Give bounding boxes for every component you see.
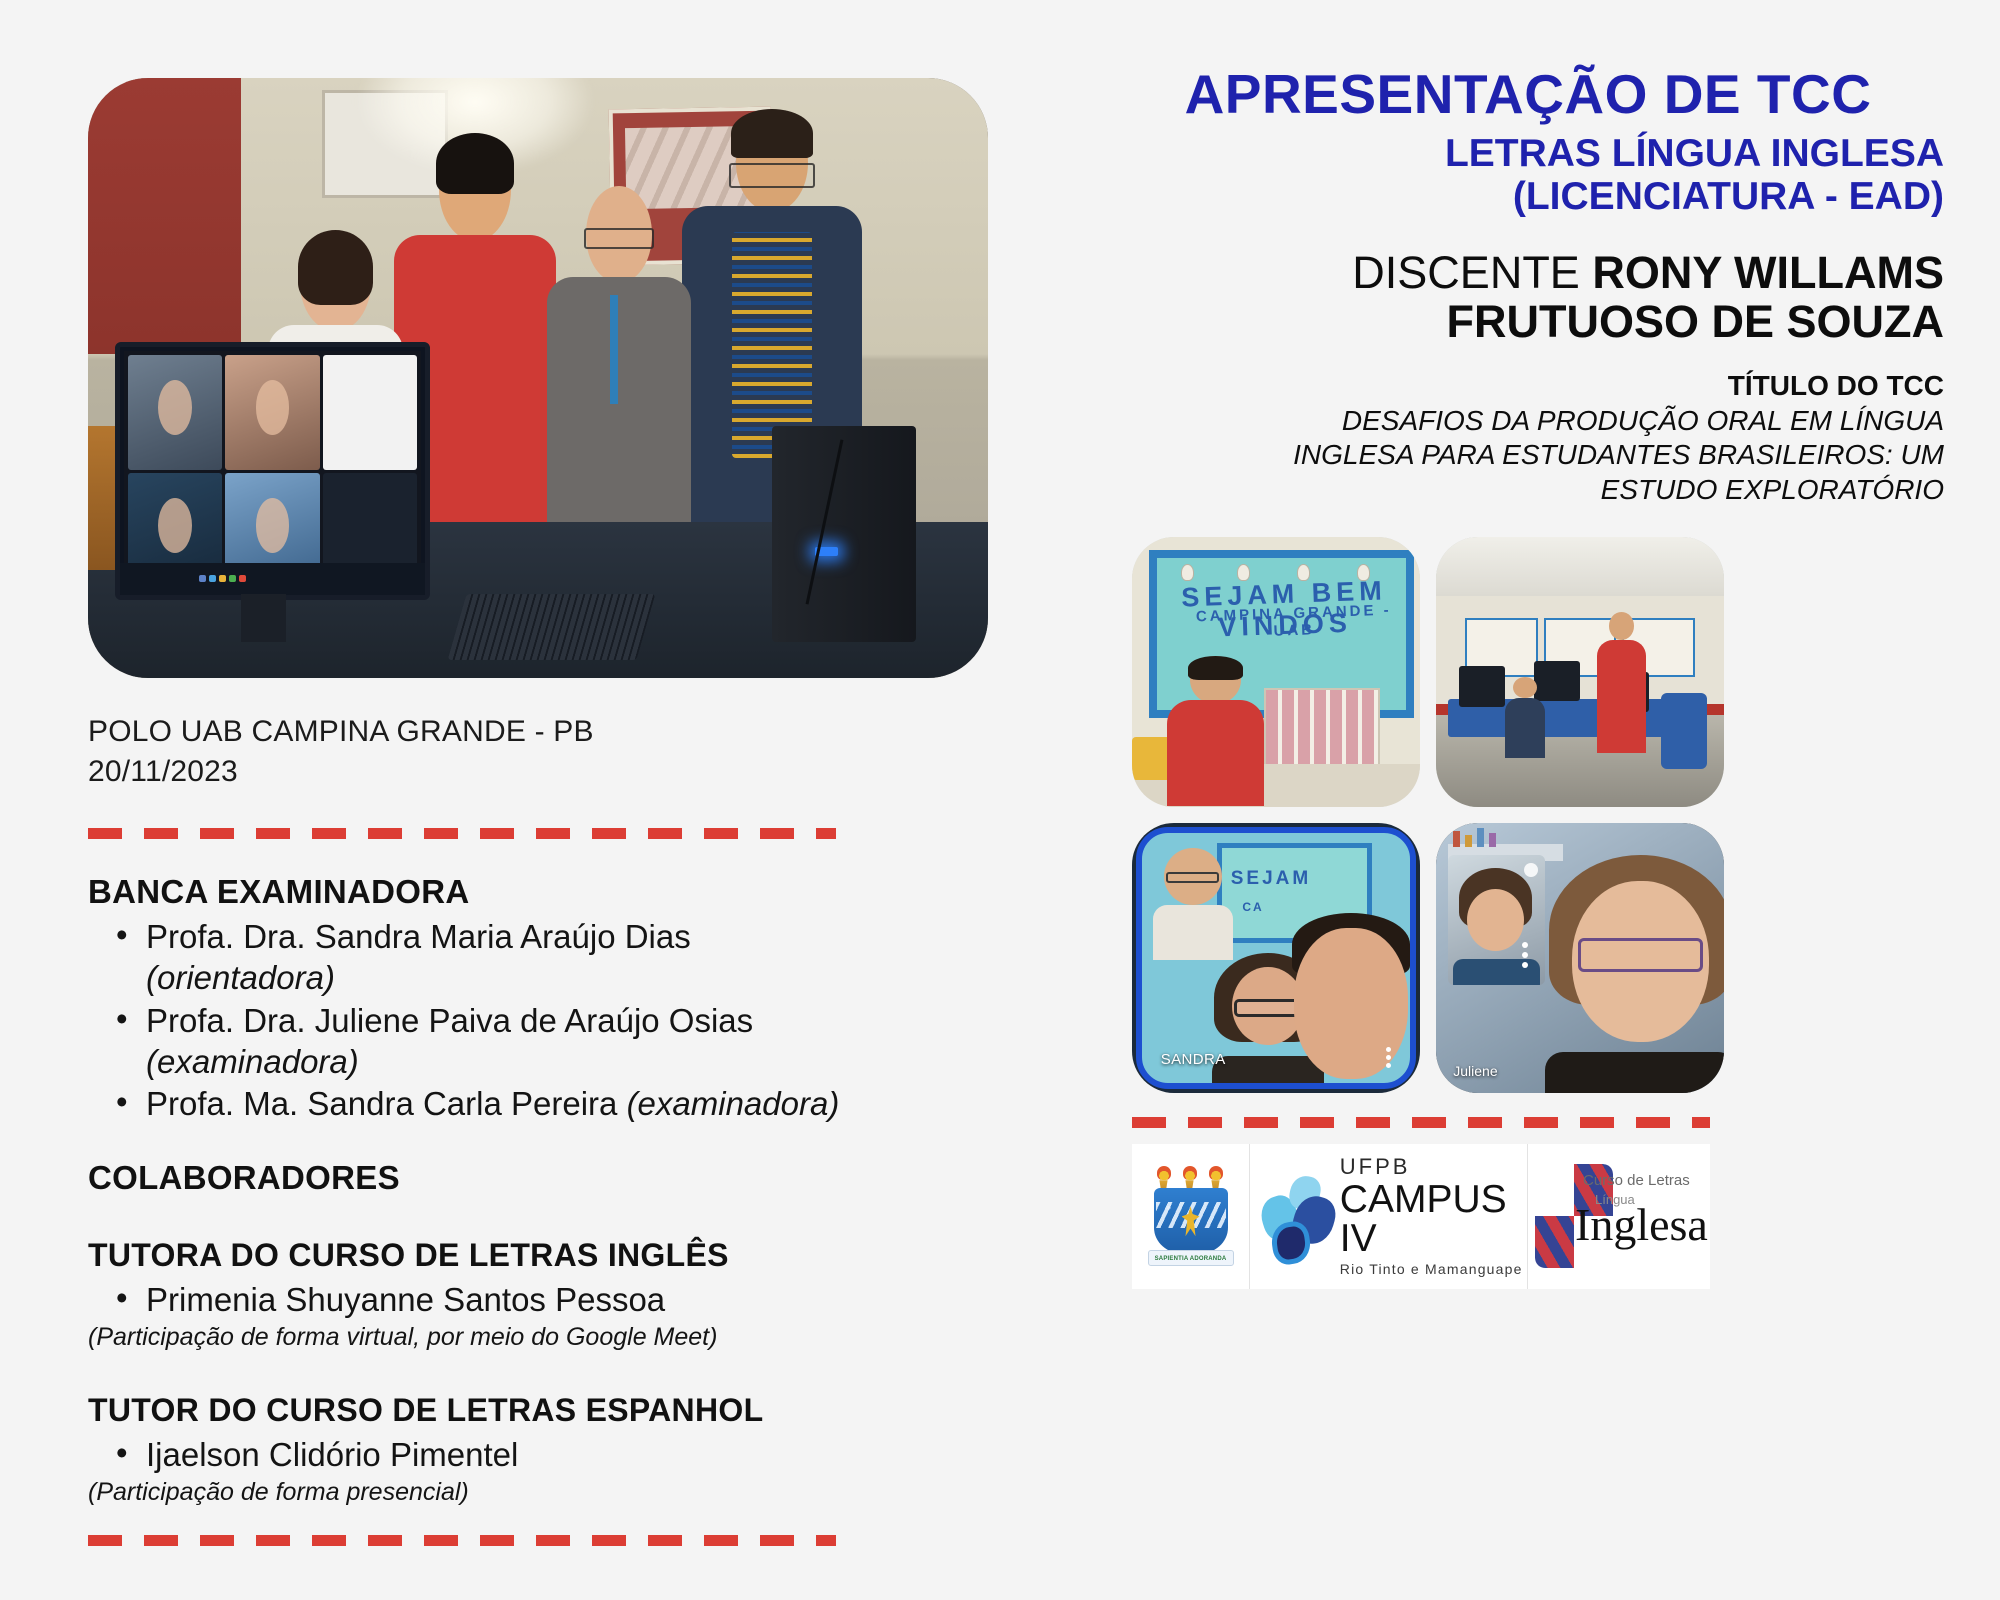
polo-text: POLO UAB CAMPINA GRANDE - PB — [88, 712, 1110, 752]
campus-blob-icon — [1260, 1168, 1330, 1264]
tutora-ingles-note: (Participação de forma virtual, por meio… — [88, 1323, 1110, 1352]
google-meet-grid — [124, 351, 421, 591]
more-options-icon — [1386, 1047, 1391, 1068]
student-figure — [1167, 656, 1265, 807]
mic-muted-icon — [1524, 863, 1538, 877]
hero-monitor — [115, 342, 430, 600]
curso-line-1: Curso de Letras — [1583, 1172, 1690, 1189]
banca-member-role: (orientadora) — [146, 959, 335, 996]
tutora-ingles-list: Primenia Shuyanne Santos Pessoa — [88, 1280, 1110, 1321]
divider-top — [88, 828, 836, 839]
campus-line-2: CAMPUS IV — [1340, 1180, 1527, 1258]
hero-keyboard — [448, 594, 656, 660]
tcc-title-line-3: ESTUDO EXPLORATÓRIO — [1601, 474, 1944, 505]
call-person-back — [1153, 848, 1233, 958]
subtitle-line-2: (LICENCIATURA - EAD) — [1513, 175, 1944, 218]
video-nametag: SANDRA — [1161, 1051, 1226, 1068]
tcc-label: TÍTULO DO TCC — [1110, 370, 1956, 402]
student-label: DISCENTE — [1352, 247, 1580, 298]
list-item: Profa. Dra. Sandra Maria Araújo Dias (or… — [88, 917, 1110, 999]
campus-iv-logo: UFPB CAMPUS IV Rio Tinto e Mamanguape — [1250, 1144, 1528, 1289]
hero-pc-tower — [772, 426, 916, 642]
glasses-icon — [729, 163, 815, 188]
divider-above-logos — [1132, 1117, 1710, 1128]
lab-person-standing — [1597, 612, 1646, 752]
banca-member-name: Profa. Ma. Sandra Carla Pereira — [146, 1085, 617, 1122]
brasao-motto: SAPIENTIA ADORANDA — [1148, 1250, 1234, 1266]
tcc-title-line-1: DESAFIOS DA PRODUÇÃO ORAL EM LÍNGUA — [1342, 405, 1944, 436]
campus-line-3: Rio Tinto e Mamanguape — [1340, 1262, 1527, 1276]
hero-monitor-stand — [241, 594, 286, 642]
banca-member-name: Profa. Dra. Sandra Maria Araújo Dias — [146, 918, 691, 955]
hero-photo — [88, 78, 988, 678]
photo-student-welcome-board: SEJAM BEM VINDOS CAMPINA GRANDE - UAB — [1132, 537, 1420, 807]
logo-bar: SAPIENTIA ADORANDA UFPB CAMPUS IV Rio Ti… — [1132, 1144, 1710, 1289]
photo-video-call-two: Juliene — [1436, 823, 1724, 1093]
call-person-main — [1545, 855, 1724, 1093]
page-subtitle: LETRAS LÍNGUA INGLESA (LICENCIATURA - EA… — [1110, 132, 1956, 219]
tutor-espanhol-group: TUTOR DO CURSO DE LETRAS ESPANHOL Ijaels… — [88, 1392, 1110, 1507]
campus-line-1: UFPB — [1340, 1156, 1527, 1178]
tutor-espanhol-title: TUTOR DO CURSO DE LETRAS ESPANHOL — [88, 1392, 1110, 1429]
tutor-espanhol-list: Ijaelson Clidório Pimentel — [88, 1435, 1110, 1476]
tutora-ingles-title: TUTORA DO CURSO DE LETRAS INGLÊS — [88, 1237, 1110, 1274]
divider-bottom-left — [88, 1535, 836, 1546]
banca-section: BANCA EXAMINADORA Profa. Dra. Sandra Mar… — [88, 873, 1110, 1126]
video-nametag: Juliene — [1453, 1063, 1497, 1079]
photo-video-call-selfie: SEJAM CA SANDRA — [1132, 823, 1420, 1093]
list-item: Ijaelson Clidório Pimentel — [88, 1435, 1110, 1476]
tcc-title-line-2: INGLESA PARA ESTUDANTES BRASILEIROS: UM — [1293, 439, 1944, 470]
colaboradores-section: COLABORADORES — [88, 1159, 1110, 1197]
tutor-espanhol-note: (Participação de forma presencial) — [88, 1478, 1110, 1507]
student-name-line-2: FRUTUOSO DE SOUZA — [1446, 296, 1944, 347]
lab-person-seated — [1505, 677, 1545, 758]
title-block: APRESENTAÇÃO DE TCC LETRAS LÍNGUA INGLES… — [1110, 66, 1956, 219]
page-title: APRESENTAÇÃO DE TCC — [1110, 66, 1956, 124]
right-column: APRESENTAÇÃO DE TCC LETRAS LÍNGUA INGLES… — [1110, 0, 2000, 1600]
colaboradores-title: COLABORADORES — [88, 1159, 1110, 1197]
banca-member-name: Profa. Dra. Juliene Paiva de Araújo Osia… — [146, 1002, 753, 1039]
list-item: Primenia Shuyanne Santos Pessoa — [88, 1280, 1110, 1321]
left-column: POLO UAB CAMPINA GRANDE - PB 20/11/2023 … — [0, 0, 1110, 1600]
ufpb-brasao-logo: SAPIENTIA ADORANDA — [1132, 1144, 1250, 1289]
call-pip-participant — [1448, 855, 1546, 985]
student-name-line-1: RONY WILLAMS — [1592, 247, 1944, 298]
hero-wall-red-panel — [88, 78, 241, 354]
poster-root: POLO UAB CAMPINA GRANDE - PB 20/11/2023 … — [0, 0, 2000, 1600]
banca-title: BANCA EXAMINADORA — [88, 873, 1110, 911]
photo-computer-lab — [1436, 537, 1724, 807]
taskbar — [120, 563, 425, 595]
curso-letras-inglesa-logo: Curso de Letras Língua Inglesa — [1528, 1144, 1710, 1289]
call-person-front — [1287, 913, 1416, 1089]
banca-member-role: (examinadora) — [146, 1043, 359, 1080]
curso-line-3: Inglesa — [1575, 1198, 1708, 1251]
list-item: Profa. Ma. Sandra Carla Pereira (examina… — [88, 1084, 1110, 1125]
board-photo-collage — [1264, 688, 1379, 769]
location-caption: POLO UAB CAMPINA GRANDE - PB 20/11/2023 — [88, 712, 1110, 792]
date-text: 20/11/2023 — [88, 752, 1110, 792]
more-options-icon — [1522, 942, 1528, 968]
photo-grid: SEJAM BEM VINDOS CAMPINA GRANDE - UAB — [1110, 537, 1956, 1093]
banca-member-role: (examinadora) — [627, 1085, 840, 1122]
banca-list: Profa. Dra. Sandra Maria Araújo Dias (or… — [88, 917, 1110, 1126]
student-block: DISCENTE RONY WILLAMS FRUTUOSO DE SOUZA — [1110, 249, 1956, 346]
list-item: Profa. Dra. Juliene Paiva de Araújo Osia… — [88, 1001, 1110, 1083]
tcc-title: DESAFIOS DA PRODUÇÃO ORAL EM LÍNGUA INGL… — [1110, 404, 1956, 506]
subtitle-line-1: LETRAS LÍNGUA INGLESA — [1445, 132, 1944, 175]
tutora-ingles-group: TUTORA DO CURSO DE LETRAS INGLÊS Primeni… — [88, 1237, 1110, 1352]
